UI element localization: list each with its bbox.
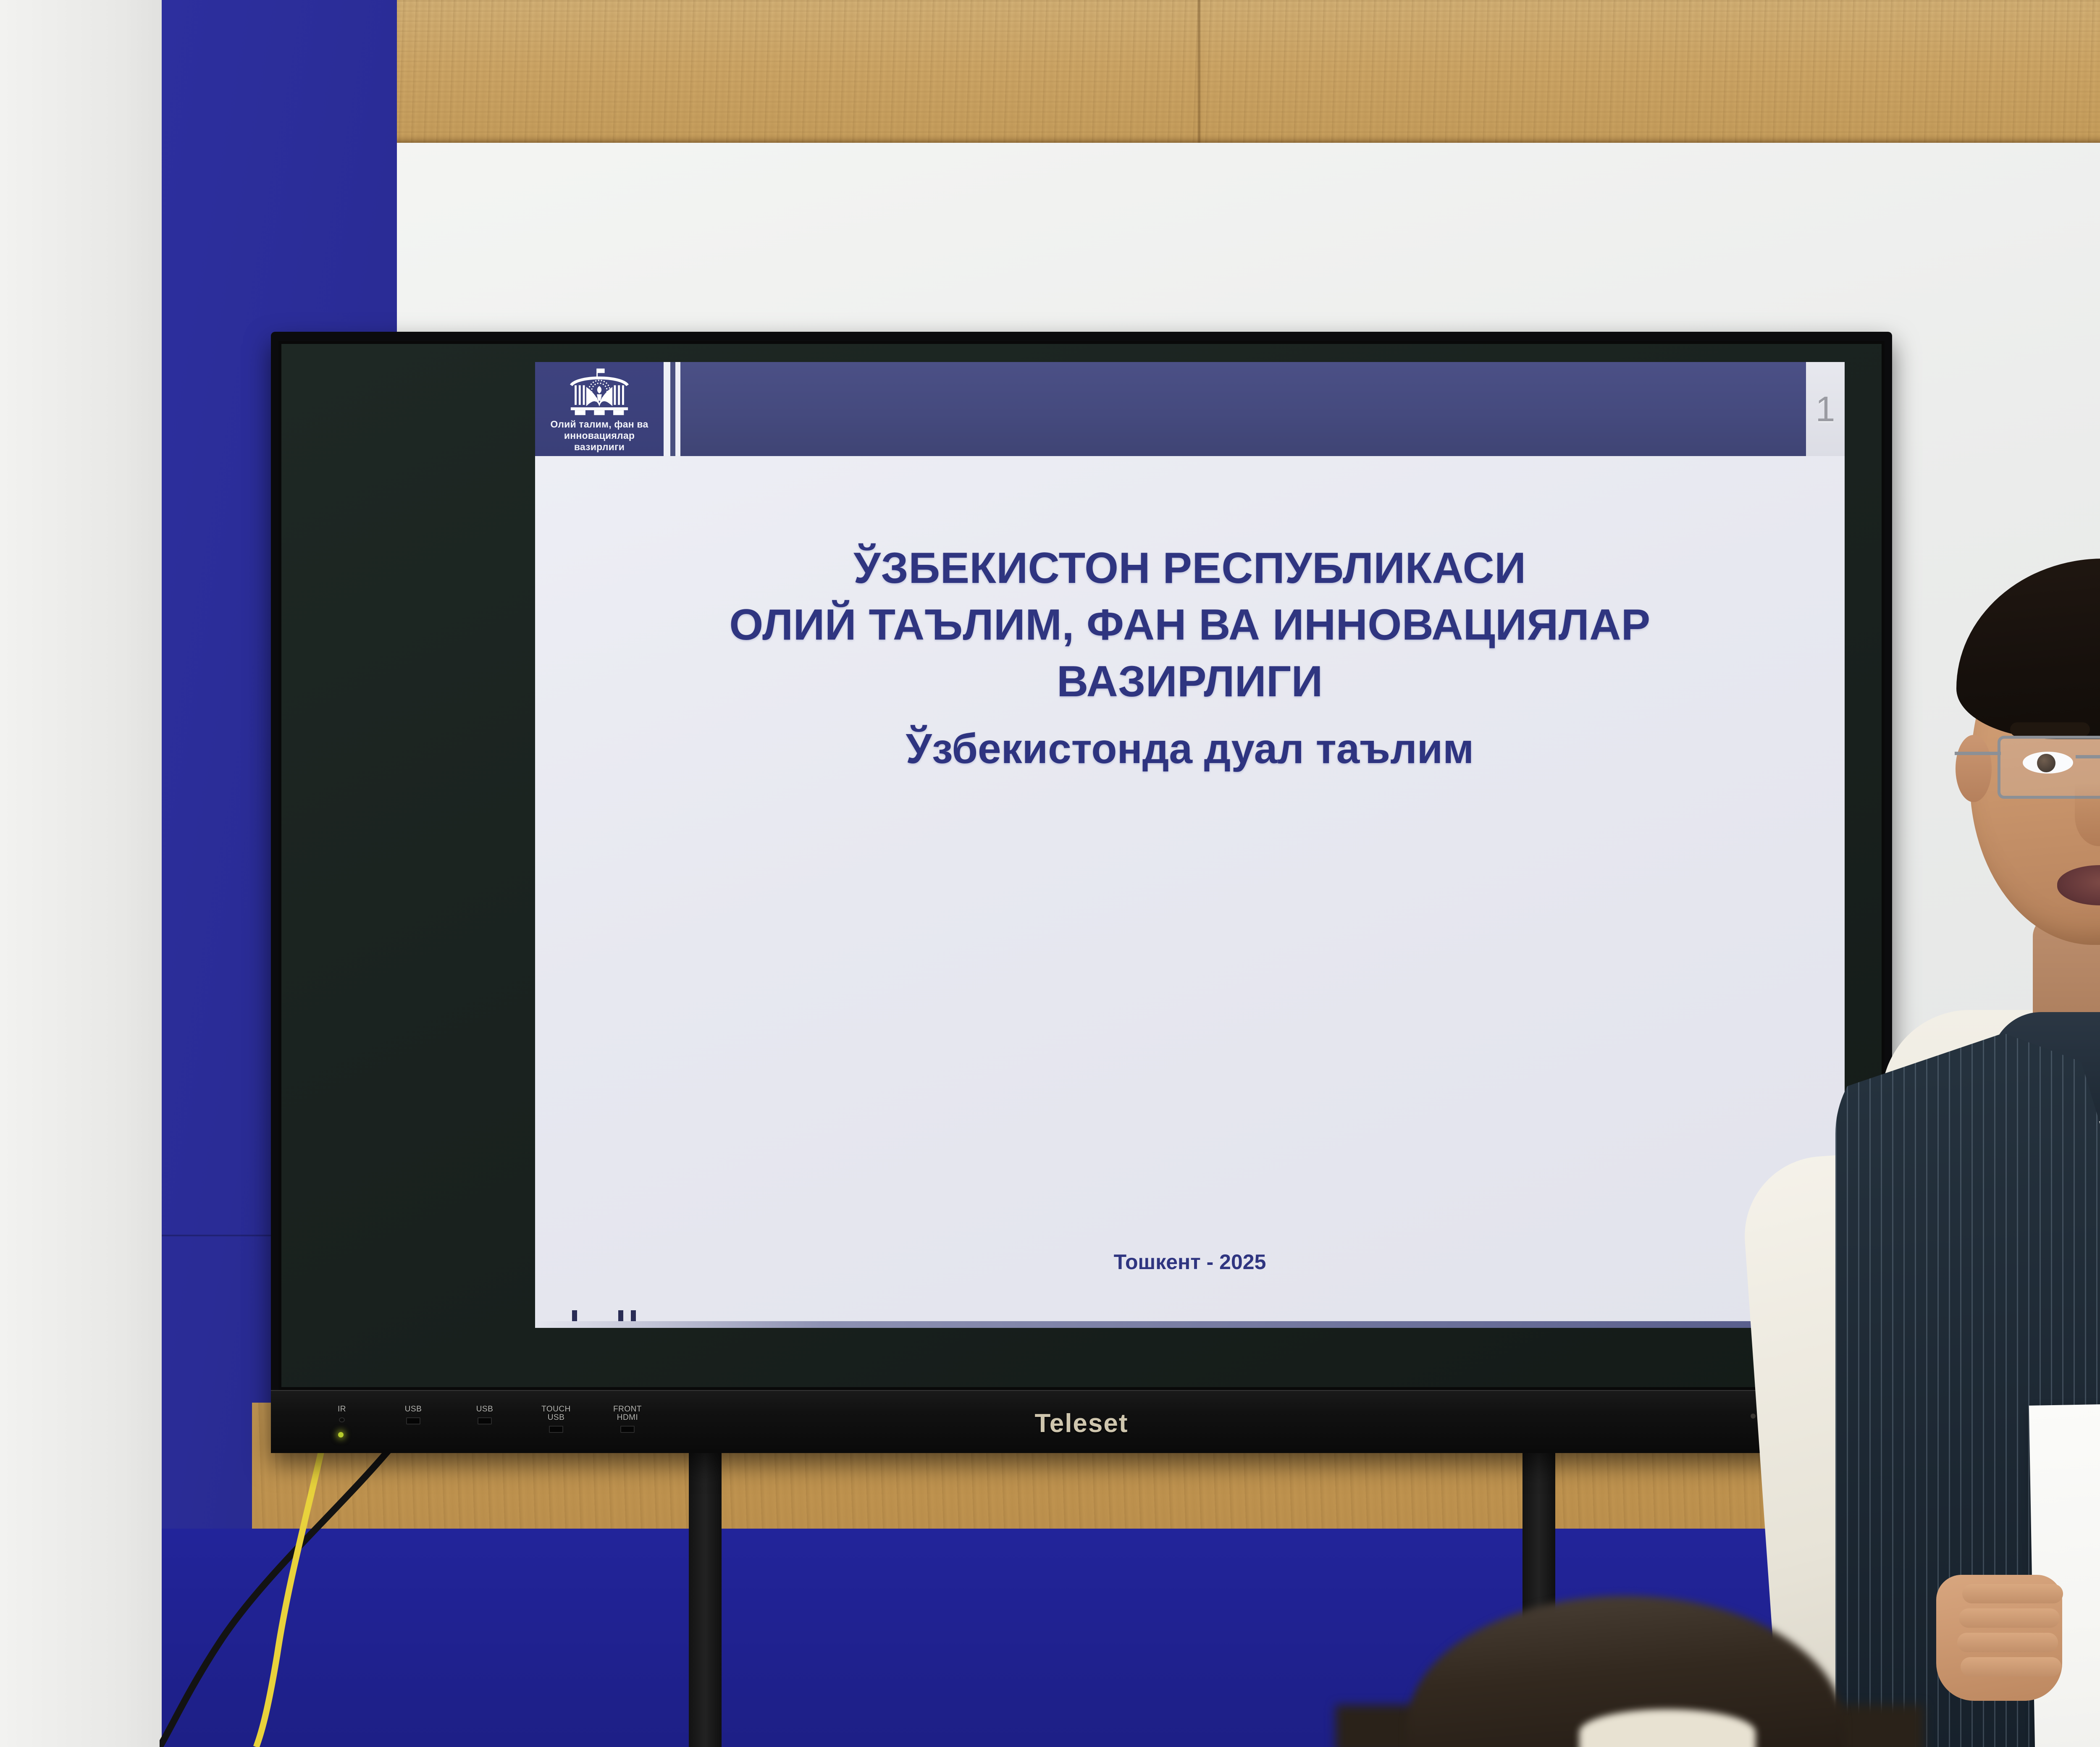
header-gap [664,362,670,456]
ir-sensor-icon [339,1417,345,1422]
display-stand-leg-left [689,1424,722,1747]
glasses-arm-left-icon [1955,752,2001,755]
hdmi-port-icon [620,1426,635,1433]
header-accent-stripe [670,362,675,456]
port-front-hdmi[interactable]: FRONT HDMI [609,1405,646,1433]
port-usb-1[interactable]: USB [395,1405,432,1424]
left-wall [0,0,176,1747]
port-touch-usb[interactable]: TOUCH USB [538,1405,575,1433]
slide-footer: Тошкент - 2025 [535,1250,1845,1274]
power-led-icon [338,1432,344,1437]
usb-port-icon [478,1417,492,1424]
display-port-row[interactable]: IR USB USB TOUCH USB FRONT HDMI [323,1405,646,1433]
presenter-eyebrow-left [2010,722,2090,737]
slide-subtitle: Ўзбекистонда дуал таълим [535,725,1845,773]
port-usb-2[interactable]: USB [466,1405,503,1424]
title-line-3: ВАЗИРЛИГИ [535,653,1845,710]
presenter-ear-left [1956,735,1992,802]
presenter-hair [1956,559,2100,739]
usb-port-icon [549,1426,563,1433]
slide-number-badge: 1 [1806,362,1845,456]
presenter [1756,554,2100,1747]
title-line-2: ОЛИЙ ТАЪЛИМ, ФАН ВА ИННОВАЦИЯЛАР [535,597,1845,653]
footer-tick-3 [631,1310,636,1321]
port-ir[interactable]: IR [323,1405,360,1422]
presenter-hand-left [1936,1575,2062,1701]
ministry-logo-caption: Олий талим, фан ва инновациялар вазирлиг… [538,419,660,453]
network-cable-yellow [252,1403,344,1747]
header-band: 1 [680,362,1845,456]
remote-sensor-icon [1751,1414,1756,1419]
slide-footer-bar [535,1321,1845,1328]
slide-number-value: 1 [1816,391,1835,427]
glasses-bridge-icon [2076,755,2100,758]
presentation-room-scene: Teleset IR USB USB TOUCH USB [0,0,2100,1747]
footer-tick-1 [572,1310,577,1321]
slide-header: Олий талим, фан ва инновациялар вазирлиг… [535,362,1845,456]
title-line-1: ЎЗБЕКИСТОН РЕСПУБЛИКАСИ [535,540,1845,597]
ministry-emblem-icon [554,367,644,417]
wood-top-panel [252,0,2100,143]
header-gap-2 [675,362,680,456]
ministry-logo-block: Олий талим, фан ва инновациялар вазирлиг… [535,362,664,456]
slide-body: ЎЗБЕКИСТОН РЕСПУБЛИКАСИ ОЛИЙ ТАЪЛИМ, ФАН… [535,456,1845,1328]
presentation-slide[interactable]: Олий талим, фан ва инновациялар вазирлиг… [535,362,1845,1328]
usb-port-icon [406,1417,420,1424]
footer-tick-2 [618,1310,623,1321]
slide-title: ЎЗБЕКИСТОН РЕСПУБЛИКАСИ ОЛИЙ ТАЪЛИМ, ФАН… [535,540,1845,711]
display-bezel-bottom: Teleset IR USB USB TOUCH USB [271,1390,1892,1453]
